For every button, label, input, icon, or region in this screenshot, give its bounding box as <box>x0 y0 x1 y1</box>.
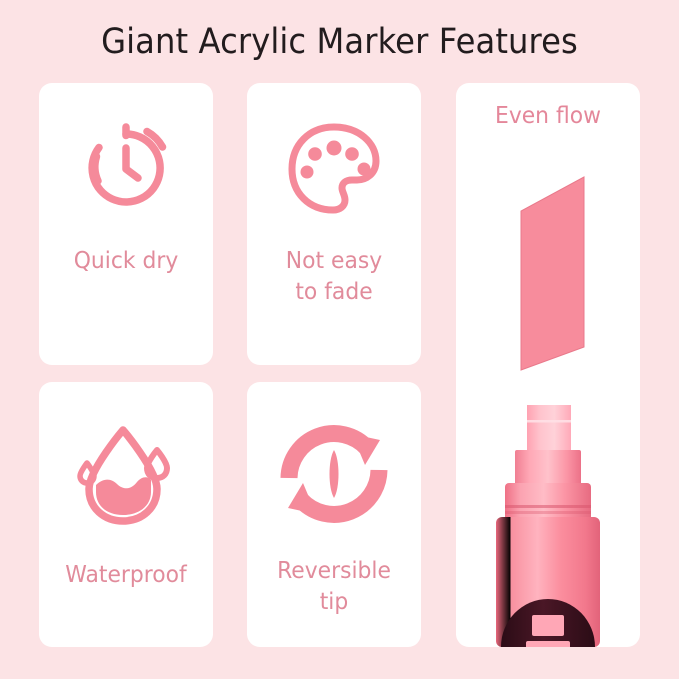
feature-card-quick-dry[interactable]: Quick dry <box>39 83 213 365</box>
feature-card-not-easy-to-fade[interactable]: Not easy to fade <box>247 83 421 365</box>
page-title: Giant Acrylic Marker Features <box>27 22 652 62</box>
even-flow-panel[interactable]: Even flow <box>456 83 640 647</box>
feature-label-line-1: Not easy <box>259 246 409 277</box>
stopwatch-icon <box>39 109 213 227</box>
feature-card-grid: Quick dry Not easy to fade Even fl <box>39 83 640 647</box>
rotate-arrows-icon <box>247 410 421 538</box>
feature-card-waterproof[interactable]: Waterproof <box>39 382 213 647</box>
feature-label-line-1: Reversible <box>259 556 409 587</box>
feature-label-waterproof: Waterproof <box>51 560 201 591</box>
water-droplet-icon <box>39 412 213 540</box>
feature-label-line-2: tip <box>259 587 409 618</box>
feature-label-line-2: to fade <box>259 277 409 308</box>
feature-label-not-easy-to-fade: Not easy to fade <box>259 246 409 307</box>
paint-palette-icon <box>247 109 421 227</box>
feature-label-quick-dry: Quick dry <box>51 246 201 277</box>
feature-infographic: Giant Acrylic Marker Features Quick dry <box>0 0 679 679</box>
feature-card-reversible-tip[interactable]: Reversible tip <box>247 382 421 647</box>
even-flow-title: Even flow <box>461 103 636 129</box>
acrylic-marker-illustration <box>488 401 608 647</box>
paint-stroke-swatch <box>518 175 586 372</box>
feature-label-reversible-tip: Reversible tip <box>259 556 409 617</box>
